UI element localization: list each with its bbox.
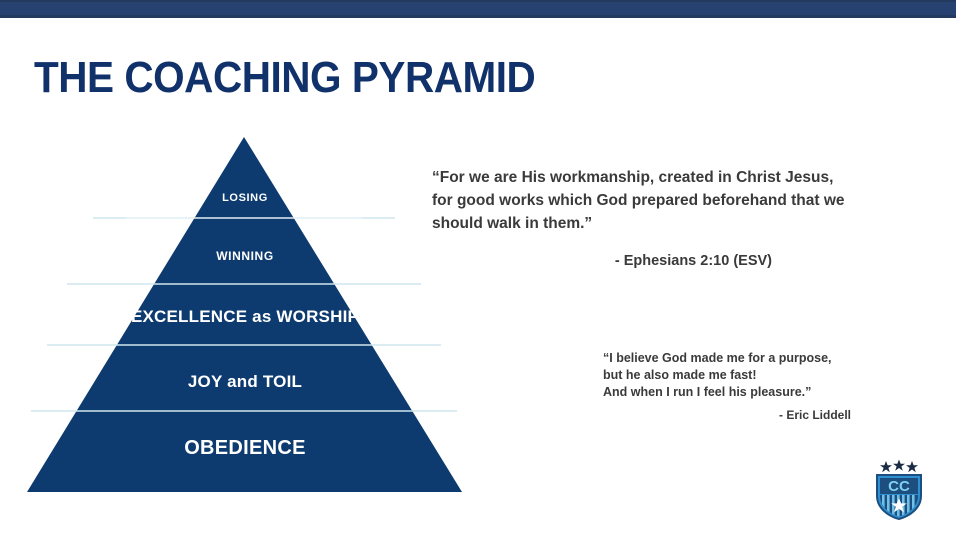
top-accent-bar: [0, 0, 956, 18]
coaching-pyramid-diagram: LOSING WINNING EXCELLENCE as WORSHIP JOY…: [25, 135, 465, 495]
top-accent-bar-inner: [0, 2, 956, 15]
slide-canvas: THE COACHING PYRAMID LOSING WINNING EXCE…: [0, 0, 956, 538]
scripture-reference: - Ephesians 2:10 (ESV): [432, 253, 772, 269]
pyramid-shape: [25, 135, 465, 495]
liddell-attribution: - Eric Liddell: [603, 408, 851, 422]
shield-monogram: CC: [888, 478, 910, 495]
shield-logo-icon: CC: [869, 458, 929, 520]
logo-stars-icon: [880, 460, 918, 473]
liddell-quote-line-3: And when I run I feel his pleasure.”: [603, 384, 863, 401]
liddell-quote-block: “I believe God made me for a purpose, bu…: [603, 350, 863, 401]
liddell-quote-line-1: “I believe God made me for a purpose,: [603, 350, 863, 367]
scripture-quote-text: “For we are His workmanship, created in …: [432, 166, 857, 235]
liddell-quote-line-2: but he also made me fast!: [603, 367, 863, 384]
page-title: THE COACHING PYRAMID: [34, 54, 535, 102]
shield-logo: CC: [869, 458, 929, 520]
